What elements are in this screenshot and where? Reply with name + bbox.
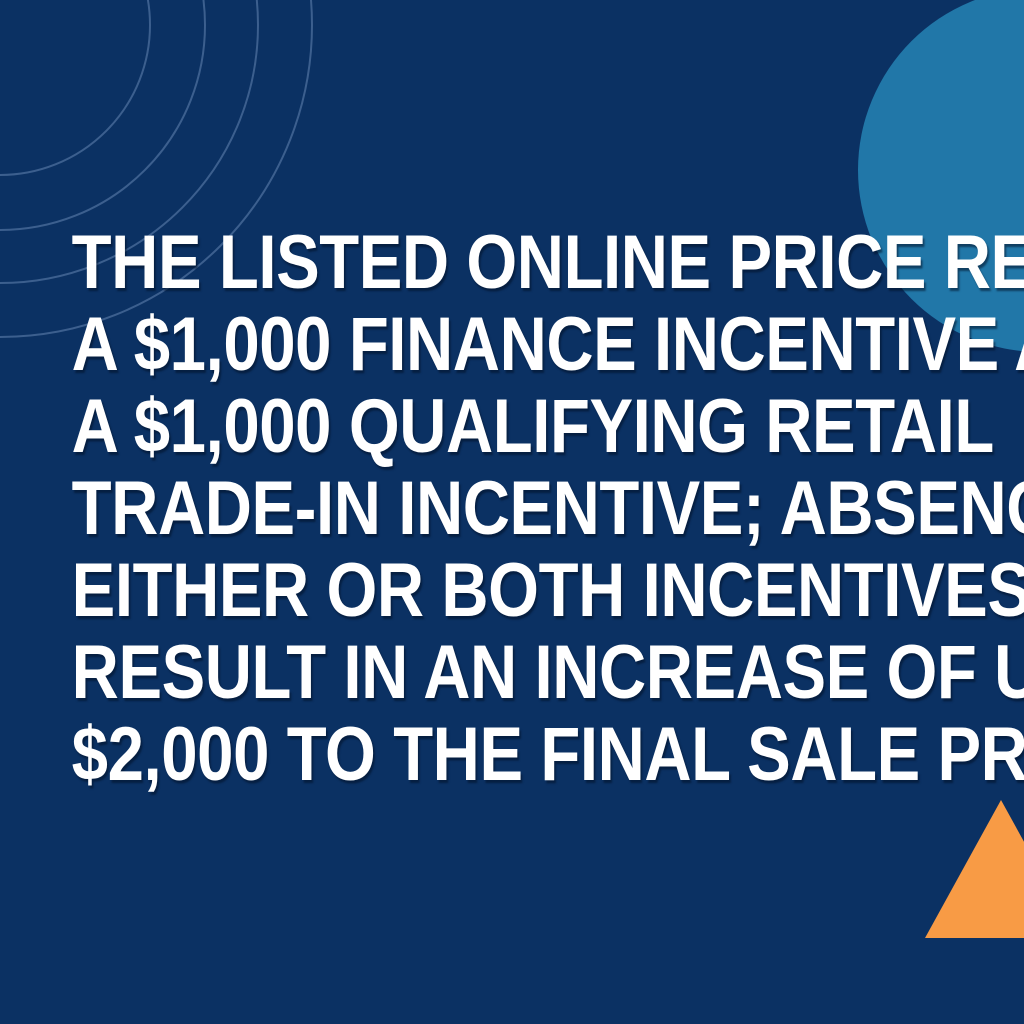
headline-line-4: TRADE-IN INCENTIVE; ABSENCE OF	[72, 468, 953, 550]
triangle-decoration	[925, 800, 1024, 938]
headline-line-5: EITHER OR BOTH INCENTIVES WILL	[72, 550, 953, 632]
headline-line-1: THE LISTED ONLINE PRICE REFLECTS	[72, 222, 953, 304]
headline-line-7: $2,000 TO THE FINAL SALE PRICE.	[72, 714, 953, 796]
disclaimer-headline: THE LISTED ONLINE PRICE REFLECTS A $1,00…	[0, 222, 1024, 796]
headline-line-6: RESULT IN AN INCREASE OF UP TO	[72, 632, 953, 714]
headline-line-2: A $1,000 FINANCE INCENTIVE AND	[72, 304, 953, 386]
headline-line-3: A $1,000 QUALIFYING RETAIL	[72, 386, 953, 468]
disclaimer-graphic: THE LISTED ONLINE PRICE REFLECTS A $1,00…	[0, 0, 1024, 1024]
